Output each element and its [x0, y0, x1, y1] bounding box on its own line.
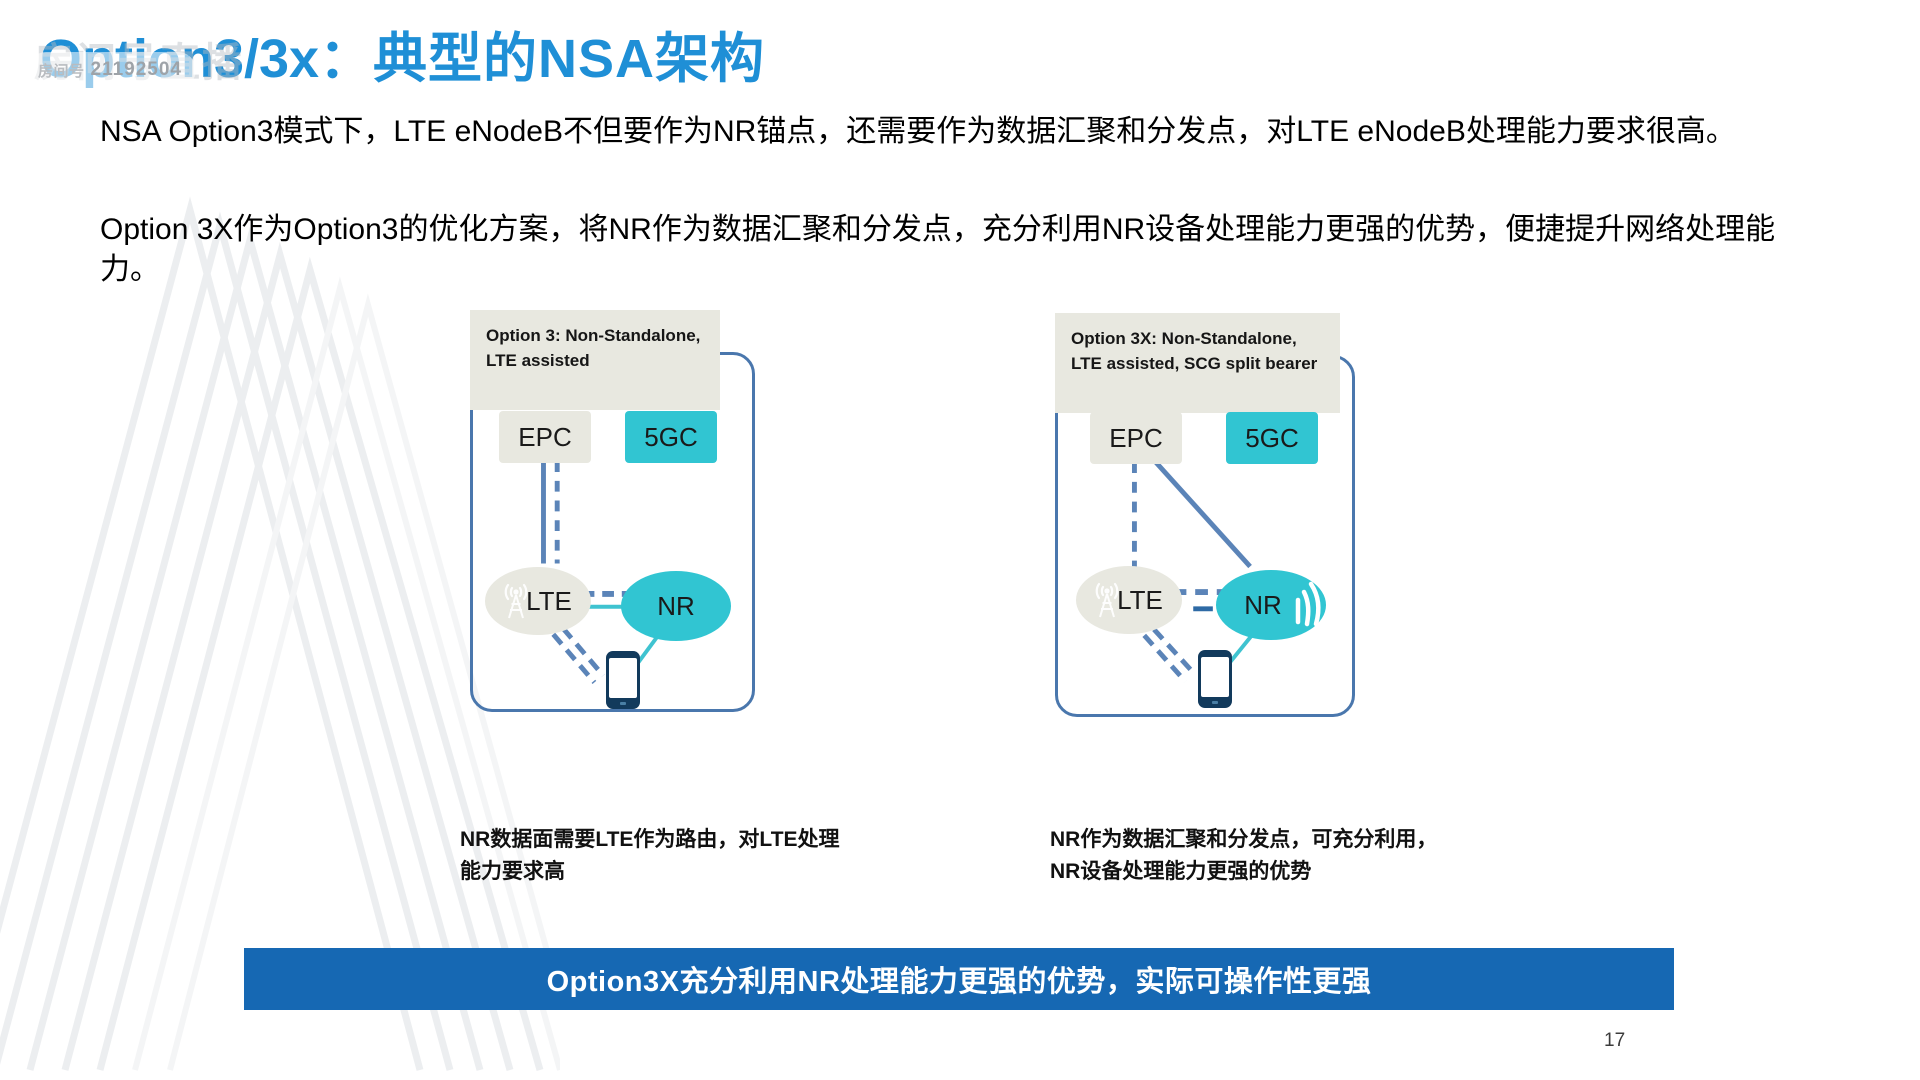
summary-banner: Option3X充分利用NR处理能力更强的优势，实际可操作性更强 [244, 948, 1674, 1010]
node-nr-option3-label: NR [657, 591, 695, 622]
page-title: Option3/3x：典型的NSA架构 [40, 14, 765, 93]
diagram-option3: Option 3: Non-Standalone, LTE assisted [470, 310, 760, 712]
node-epc-option3x: EPC [1090, 412, 1182, 464]
node-epc-option3: EPC [499, 411, 591, 463]
page-number: 17 [1604, 1030, 1625, 1052]
caption-option3: NR数据面需要LTE作为路由，对LTE处理 能力要求高 [460, 824, 880, 887]
body-paragraph-2: Option 3X作为Option3的优化方案，将NR作为数据汇聚和分发点，充分… [100, 210, 1800, 290]
node-epc-option3x-label: EPC [1109, 423, 1162, 454]
node-epc-option3-label: EPC [518, 422, 571, 453]
page-title-cn: 典型的NSA架构 [373, 29, 765, 89]
node-nr-option3x: NR [1216, 570, 1326, 640]
page-title-en: Option3/3x： [40, 29, 373, 89]
node-lte-option3: LTE [485, 567, 591, 635]
caption-option3x: NR作为数据汇聚和分发点，可充分利用， NR设备处理能力更强的优势 [1050, 824, 1510, 887]
slide-canvas: Option3/3x：典型的NSA架构 房间号直播 房间号 21192504 N… [0, 0, 1920, 1080]
node-5gc-option3x: 5GC [1226, 412, 1318, 464]
node-5gc-option3-label: 5GC [644, 422, 697, 453]
ue-phone-option3 [606, 651, 640, 709]
node-lte-option3x: LTE [1076, 566, 1182, 634]
summary-banner-text: Option3X充分利用NR处理能力更强的优势，实际可操作性更强 [547, 958, 1372, 1000]
diagram-option3-header: Option 3: Non-Standalone, LTE assisted [470, 310, 720, 410]
node-5gc-option3: 5GC [625, 411, 717, 463]
node-5gc-option3x-label: 5GC [1245, 423, 1298, 454]
node-nr-option3x-label: NR [1244, 590, 1282, 621]
diagram-option3x-header: Option 3X: Non-Standalone, LTE assisted,… [1055, 313, 1340, 413]
ue-phone-option3x [1198, 650, 1232, 708]
diagram-option3x: Option 3X: Non-Standalone, LTE assisted,… [1055, 313, 1345, 717]
body-paragraph-1: NSA Option3模式下，LTE eNodeB不但要作为NR锚点，还需要作为… [100, 112, 1800, 152]
node-nr-option3: NR [621, 571, 731, 641]
signal-waves-icon [1290, 572, 1330, 628]
cell-tower-icon [499, 575, 533, 619]
cell-tower-icon [1090, 574, 1124, 618]
